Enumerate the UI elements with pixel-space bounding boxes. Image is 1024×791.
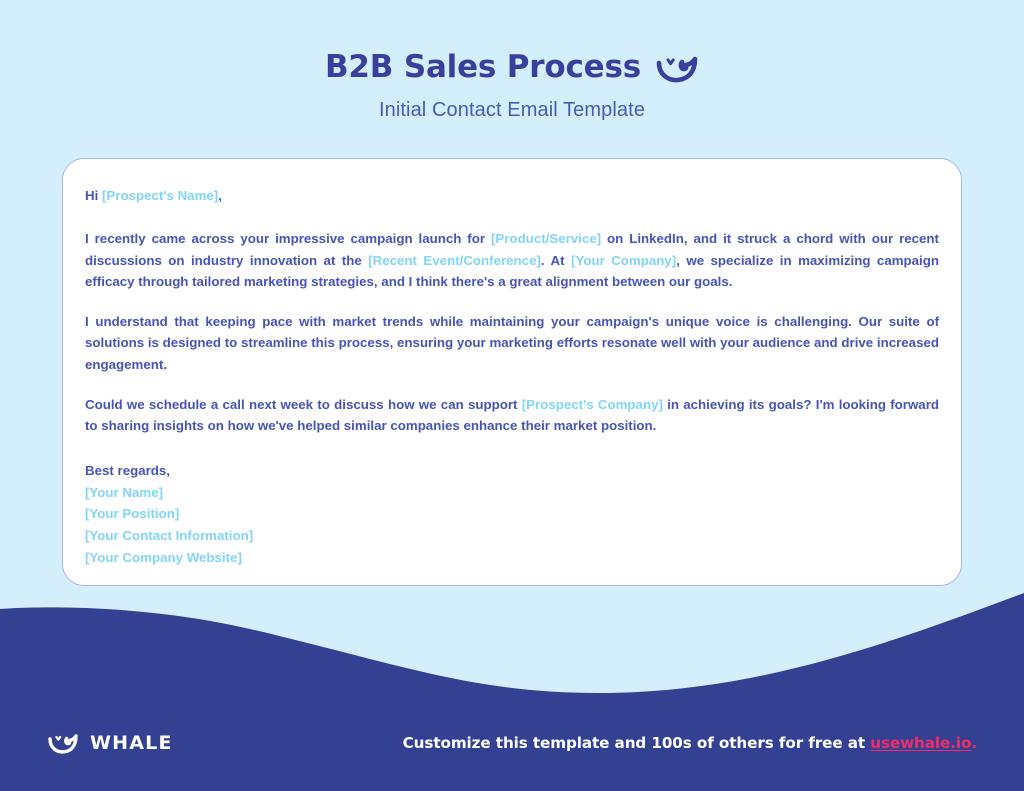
email-paragraph-3: Could we schedule a call next week to di… [85, 394, 939, 437]
email-paragraph-2: I understand that keeping pace with mark… [85, 311, 939, 375]
placeholder-your-name: [Your Name] [85, 482, 939, 504]
page-header: B2B Sales Process Initial Contact Email … [0, 0, 1024, 122]
placeholder-prospect-company: [Prospect's Company] [522, 397, 663, 412]
placeholder-your-position: [Your Position] [85, 503, 939, 525]
footer-cta: Customize this template and 100s of othe… [403, 734, 977, 752]
placeholder-your-website: [Your Company Website] [85, 547, 939, 569]
email-template-card: Hi [Prospect's Name], I recently came ac… [62, 158, 962, 586]
greeting-prefix: Hi [85, 188, 102, 203]
signature-regards: Best regards, [85, 460, 939, 482]
title-row: B2B Sales Process [0, 52, 1024, 83]
p3-part1: Could we schedule a call next week to di… [85, 397, 522, 412]
brand-name: WHALE [90, 732, 173, 754]
email-signature: Best regards, [Your Name] [Your Position… [85, 460, 939, 568]
footer-cta-suffix: . [971, 734, 977, 752]
email-body: Hi [Prospect's Name], I recently came ac… [63, 159, 961, 568]
p1-part3: . At [541, 253, 571, 268]
greeting-suffix: , [218, 188, 222, 203]
page-title: B2B Sales Process [325, 52, 641, 83]
placeholder-your-company: [Your Company] [571, 253, 676, 268]
footer-brand[interactable]: WHALE [47, 732, 173, 754]
email-greeting: Hi [Prospect's Name], [85, 185, 939, 206]
placeholder-your-contact: [Your Contact Information] [85, 525, 939, 547]
whale-icon [47, 732, 79, 754]
page-footer: WHALE Customize this template and 100s o… [0, 711, 1024, 791]
usewhale-link[interactable]: usewhale.io [870, 734, 971, 752]
page-subtitle: Initial Contact Email Template [0, 99, 1024, 122]
p1-part1: I recently came across your impressive c… [85, 231, 491, 246]
placeholder-recent-event: [Recent Event/Conference] [368, 253, 541, 268]
placeholder-product-service: [Product/Service] [491, 231, 601, 246]
email-paragraph-1: I recently came across your impressive c… [85, 228, 939, 292]
whale-icon [655, 53, 699, 83]
footer-cta-text: Customize this template and 100s of othe… [403, 734, 871, 752]
placeholder-prospect-name: [Prospect's Name] [102, 188, 218, 203]
